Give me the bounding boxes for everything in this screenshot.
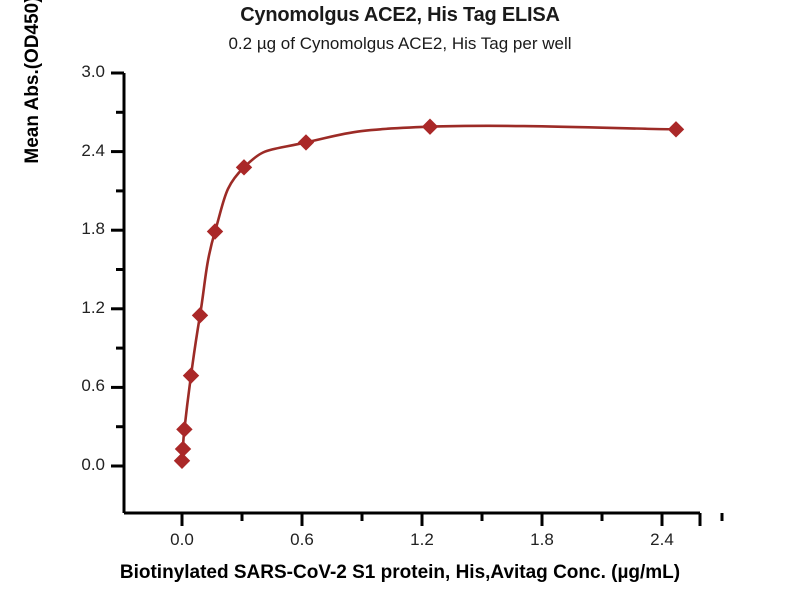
data-point-marker (299, 135, 314, 150)
data-series-line (182, 126, 676, 461)
x-axis-tick-label: 1.8 (512, 530, 572, 550)
plot-area (0, 0, 800, 600)
x-axis-tick-label: 2.4 (632, 530, 692, 550)
data-point-marker (208, 224, 223, 239)
y-axis-tick-label: 2.4 (59, 141, 105, 161)
data-point-marker (176, 441, 191, 456)
x-axis-tick-label: 0.6 (272, 530, 332, 550)
y-axis-tick-label: 1.8 (59, 219, 105, 239)
chart-figure: Cynomolgus ACE2, His Tag ELISA 0.2 µg of… (0, 0, 800, 600)
x-axis-tick-label: 0.0 (152, 530, 212, 550)
data-point-marker (177, 422, 192, 437)
data-point-marker (423, 119, 438, 134)
y-axis-tick-label: 0.6 (59, 376, 105, 396)
y-axis-tick-label: 3.0 (59, 62, 105, 82)
data-point-marker (184, 368, 199, 383)
y-axis-tick-label: 1.2 (59, 298, 105, 318)
x-axis-tick-label: 1.2 (392, 530, 452, 550)
data-point-marker (193, 308, 208, 323)
y-axis-tick-label: 0.0 (59, 455, 105, 475)
data-point-marker (669, 122, 684, 137)
